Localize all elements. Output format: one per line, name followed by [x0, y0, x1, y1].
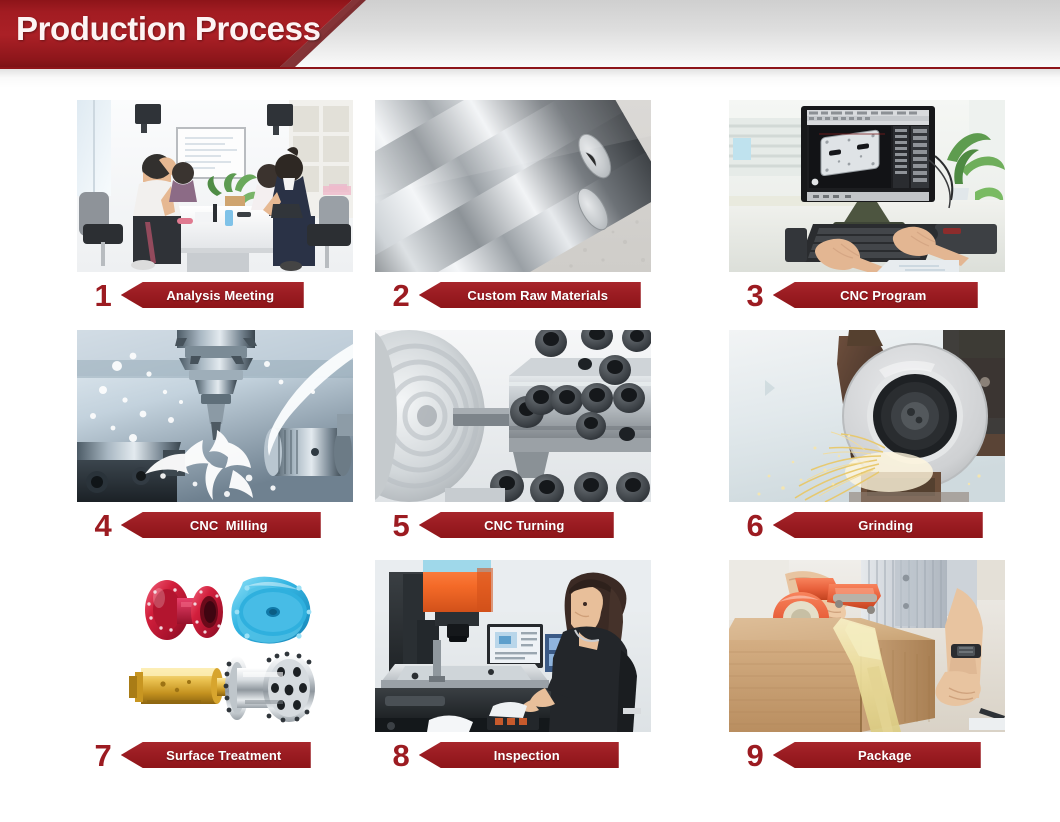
step-number: 8 — [393, 740, 419, 771]
process-step-6: 6 Grinding — [707, 318, 1060, 548]
step-label-text: Inspection — [494, 748, 560, 763]
step-label-text: CNC Turning — [484, 518, 564, 533]
step-label-row: 8 Inspection — [393, 738, 619, 772]
process-step-8: 8 Inspection — [354, 548, 707, 778]
step-number: 9 — [747, 740, 773, 771]
step-number: 6 — [747, 510, 773, 541]
process-step-5: 5 CNC Turning — [354, 318, 707, 548]
step-label-row: 9 Package — [747, 738, 981, 772]
step-label-text: CNC Program — [840, 288, 926, 303]
vision-measuring-machine-photo — [375, 560, 651, 732]
cnc-programming-workstation-photo — [729, 100, 1005, 272]
step-label-banner[interactable]: Inspection — [419, 742, 619, 768]
step-label-banner[interactable]: CNC Program — [773, 282, 978, 308]
step-label-banner[interactable]: Package — [773, 742, 981, 768]
step-label-banner[interactable]: CNC Milling — [121, 512, 321, 538]
cnc-turning-lathe-photo — [375, 330, 651, 502]
step-label-row: 4 CNC Milling — [95, 508, 321, 542]
step-label-text: Package — [858, 748, 911, 763]
step-label-banner[interactable]: Grinding — [773, 512, 983, 538]
step-label-row: 3 CNC Program — [747, 278, 978, 312]
step-label-text: Analysis Meeting — [166, 288, 274, 303]
step-label-row: 2 Custom Raw Materials — [393, 278, 641, 312]
step-number: 3 — [747, 280, 773, 311]
production-process-grid: 1 Analysis Meeting — [0, 88, 1060, 822]
process-step-2: 2 Custom Raw Materials — [354, 88, 707, 318]
office-analysis-meeting-photo — [77, 100, 353, 272]
step-label-text: Grinding — [858, 518, 913, 533]
step-number: 5 — [393, 510, 419, 541]
step-label-row: 6 Grinding — [747, 508, 983, 542]
step-label-row: 7 Surface Treatment — [95, 738, 311, 772]
step-number: 4 — [95, 510, 121, 541]
step-label-text: Custom Raw Materials — [467, 288, 608, 303]
step-label-row: 5 CNC Turning — [393, 508, 614, 542]
step-number: 7 — [95, 740, 121, 771]
step-label-text: Surface Treatment — [166, 748, 281, 763]
page-header: Production Process — [0, 0, 1060, 88]
polished-steel-bars-photo — [375, 100, 651, 272]
process-step-3: 3 CNC Program — [707, 88, 1060, 318]
step-number: 2 — [393, 280, 419, 311]
carton-taping-photo — [729, 560, 1005, 732]
step-label-banner[interactable]: Surface Treatment — [121, 742, 311, 768]
grinding-wheel-sparks-photo — [729, 330, 1005, 502]
process-step-9: 9 Package — [707, 548, 1060, 778]
step-label-banner[interactable]: CNC Turning — [419, 512, 614, 538]
step-label-row: 1 Analysis Meeting — [95, 278, 304, 312]
step-number: 1 — [95, 280, 121, 311]
step-label-banner[interactable]: Custom Raw Materials — [419, 282, 641, 308]
cnc-milling-coolant-photo — [77, 330, 353, 502]
step-label-text: CNC Milling — [190, 518, 268, 533]
header-shadow-fade — [0, 69, 1060, 88]
process-step-1: 1 Analysis Meeting — [1, 88, 354, 318]
step-label-banner[interactable]: Analysis Meeting — [121, 282, 304, 308]
process-step-7: 7 Surface Treatment — [1, 548, 354, 778]
anodized-plated-parts-photo — [77, 560, 353, 732]
process-step-4: 4 CNC Milling — [1, 318, 354, 548]
page-title: Production Process — [16, 10, 321, 48]
